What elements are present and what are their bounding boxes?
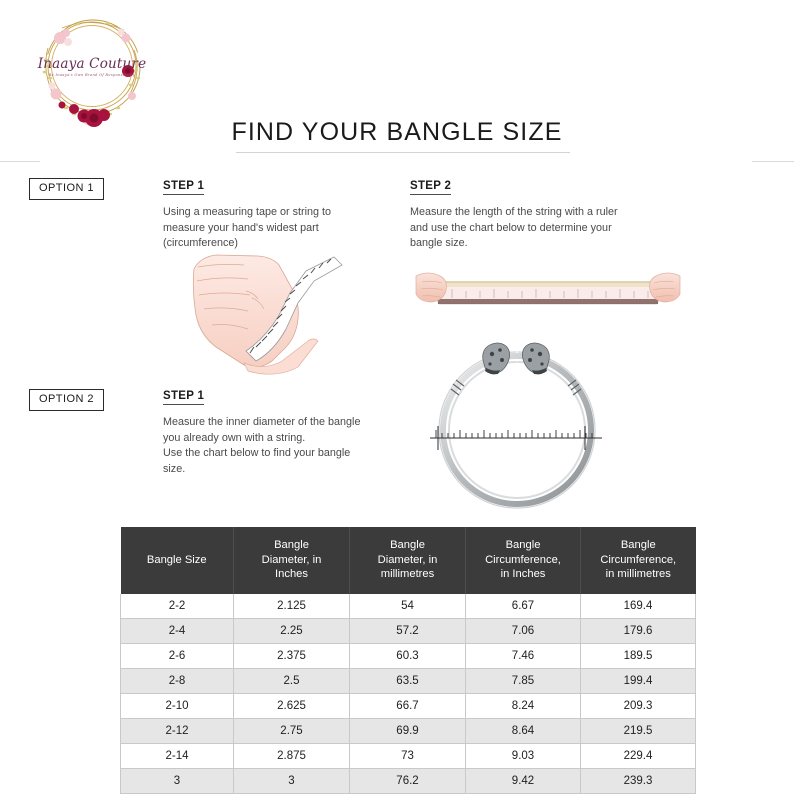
column-header-circumference-inches: Bangle Circumference, in Inches [466, 527, 581, 594]
cell-circumference-inches: 7.46 [466, 643, 581, 668]
cell-circumference-inches: 6.67 [466, 594, 581, 619]
cell-diameter-inches: 2.125 [234, 594, 350, 619]
table-row: 2-14 2.875 73 9.03 229.4 [121, 743, 696, 768]
table-row: 2-4 2.25 57.2 7.06 179.6 [121, 618, 696, 643]
brand-logo: Inaaya Couture Be Inaaya's Own Brand Of … [22, 8, 162, 130]
cell-diameter-inches: 2.25 [234, 618, 350, 643]
cell-bangle-size: 2-2 [121, 594, 234, 619]
table-header: Bangle Size Bangle Diameter, in Inches B… [121, 527, 696, 594]
title-divider-left [0, 161, 40, 162]
cell-circumference-mm: 169.4 [581, 594, 696, 619]
step-body: Measure the length of the string with a … [410, 205, 665, 252]
bangle-size-chart: Bangle Size Bangle Diameter, in Inches B… [120, 527, 695, 794]
cell-bangle-size: 3 [121, 768, 234, 793]
cell-diameter-mm: 69.9 [350, 718, 466, 743]
cell-diameter-inches: 2.875 [234, 743, 350, 768]
cell-circumference-inches: 9.42 [466, 768, 581, 793]
bangle-icon [422, 338, 610, 514]
cell-circumference-mm: 219.5 [581, 718, 696, 743]
table-row: 3 3 76.2 9.42 239.3 [121, 768, 696, 793]
hand-icon [186, 243, 366, 375]
cell-diameter-inches: 2.75 [234, 718, 350, 743]
cell-diameter-inches: 2.375 [234, 643, 350, 668]
cell-bangle-size: 2-12 [121, 718, 234, 743]
cell-bangle-size: 2-4 [121, 618, 234, 643]
cell-diameter-mm: 66.7 [350, 693, 466, 718]
cell-bangle-size: 2-10 [121, 693, 234, 718]
cell-circumference-inches: 7.85 [466, 668, 581, 693]
cell-diameter-mm: 60.3 [350, 643, 466, 668]
table-row: 2-12 2.75 69.9 8.64 219.5 [121, 718, 696, 743]
step-heading: STEP 1 [163, 180, 204, 195]
option-2-badge: OPTION 2 [29, 389, 104, 411]
hand-with-measuring-tape-illustration [186, 243, 366, 375]
cell-circumference-mm: 189.5 [581, 643, 696, 668]
ruler-and-string-illustration [412, 252, 684, 324]
cell-diameter-inches: 2.5 [234, 668, 350, 693]
step-heading: STEP 2 [410, 180, 451, 195]
cell-circumference-inches: 8.64 [466, 718, 581, 743]
table-row: 2-10 2.625 66.7 8.24 209.3 [121, 693, 696, 718]
cell-circumference-inches: 9.03 [466, 743, 581, 768]
column-header-bangle-size: Bangle Size [121, 527, 234, 594]
cell-circumference-mm: 239.3 [581, 768, 696, 793]
cell-diameter-mm: 54 [350, 594, 466, 619]
title-divider [236, 152, 570, 153]
brand-wordmark: Inaaya Couture [22, 56, 162, 72]
cell-diameter-inches: 3 [234, 768, 350, 793]
cell-diameter-mm: 57.2 [350, 618, 466, 643]
cell-circumference-mm: 179.6 [581, 618, 696, 643]
brand-tagline: Be Inaaya's Own Brand Of Responsibility [22, 73, 162, 77]
option-2-step-1: STEP 1 Measure the inner diameter of the… [163, 386, 413, 477]
cell-diameter-mm: 73 [350, 743, 466, 768]
cell-diameter-mm: 63.5 [350, 668, 466, 693]
title-divider-right [752, 161, 794, 162]
cell-circumference-mm: 209.3 [581, 693, 696, 718]
cell-diameter-inches: 2.625 [234, 693, 350, 718]
step-body: Measure the inner diameter of the bangle… [163, 415, 413, 477]
table-row: 2-6 2.375 60.3 7.46 189.5 [121, 643, 696, 668]
column-header-diameter-mm: Bangle Diameter, in millimetres [350, 527, 466, 594]
step-heading: STEP 1 [163, 390, 204, 405]
ruler-icon [412, 252, 684, 324]
column-header-circumference-mm: Bangle Circumference, in millimetres [581, 527, 696, 594]
cell-circumference-inches: 7.06 [466, 618, 581, 643]
cell-circumference-inches: 8.24 [466, 693, 581, 718]
option-1-step-1: STEP 1 Using a measuring tape or string … [163, 176, 378, 252]
cell-bangle-size: 2-6 [121, 643, 234, 668]
table-header-row: Bangle Size Bangle Diameter, in Inches B… [121, 527, 696, 594]
cell-bangle-size: 2-8 [121, 668, 234, 693]
table-body: 2-2 2.125 54 6.67 169.4 2-4 2.25 57.2 7.… [121, 594, 696, 794]
cell-circumference-mm: 229.4 [581, 743, 696, 768]
silver-bangle-illustration [422, 338, 610, 514]
column-header-diameter-inches: Bangle Diameter, in Inches [234, 527, 350, 594]
option-1-step-2: STEP 2 Measure the length of the string … [410, 176, 665, 252]
cell-circumference-mm: 199.4 [581, 668, 696, 693]
table-row: 2-2 2.125 54 6.67 169.4 [121, 594, 696, 619]
page-title: FIND YOUR BANGLE SIZE [0, 118, 794, 147]
table-row: 2-8 2.5 63.5 7.85 199.4 [121, 668, 696, 693]
option-1-badge: OPTION 1 [29, 178, 104, 200]
cell-bangle-size: 2-14 [121, 743, 234, 768]
cell-diameter-mm: 76.2 [350, 768, 466, 793]
size-table: Bangle Size Bangle Diameter, in Inches B… [120, 527, 696, 794]
